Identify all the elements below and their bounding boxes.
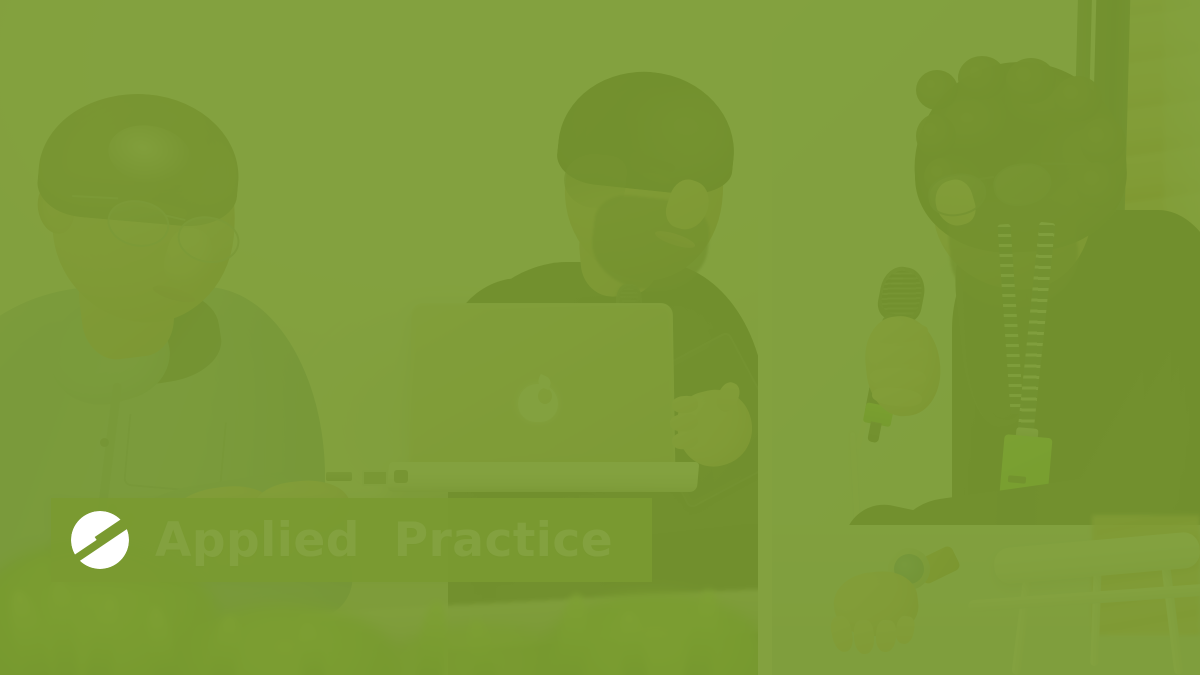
laptop-port	[362, 470, 388, 486]
resting-hand	[828, 568, 924, 654]
laptop-port	[326, 472, 352, 481]
apple-body	[518, 384, 558, 422]
hand-holding-microphone	[854, 308, 946, 428]
laptop-port	[394, 470, 408, 483]
glasses-temple	[1041, 163, 1085, 166]
hair-curl	[916, 70, 958, 110]
applied-practice-banner: Applied Practice	[51, 498, 652, 582]
applied-practice-circle-logo	[71, 511, 129, 569]
laptop-base	[387, 462, 700, 492]
hair-curl	[916, 114, 956, 158]
lens-right	[991, 159, 1055, 210]
shirt-button	[100, 438, 109, 447]
image-canvas: Applied Practice	[0, 0, 1200, 675]
hand-holding-tablet	[668, 380, 758, 476]
hair-curl	[1076, 162, 1120, 208]
panel-divider	[758, 0, 772, 675]
hair-curl	[1006, 58, 1056, 104]
badge-barcode	[1008, 475, 1027, 484]
lens-left	[103, 194, 174, 253]
glasses-bridge	[978, 176, 994, 181]
apple-logo-icon	[518, 376, 558, 422]
hair-curl	[1054, 76, 1102, 122]
right-photo	[772, 0, 1200, 675]
finger	[875, 619, 897, 652]
macbook-laptop	[388, 302, 688, 522]
hair-curl	[1080, 118, 1126, 166]
apple-notch	[538, 388, 552, 404]
hair-curl	[958, 56, 1006, 100]
finger	[853, 619, 875, 654]
banner-title: Applied Practice	[155, 517, 613, 564]
